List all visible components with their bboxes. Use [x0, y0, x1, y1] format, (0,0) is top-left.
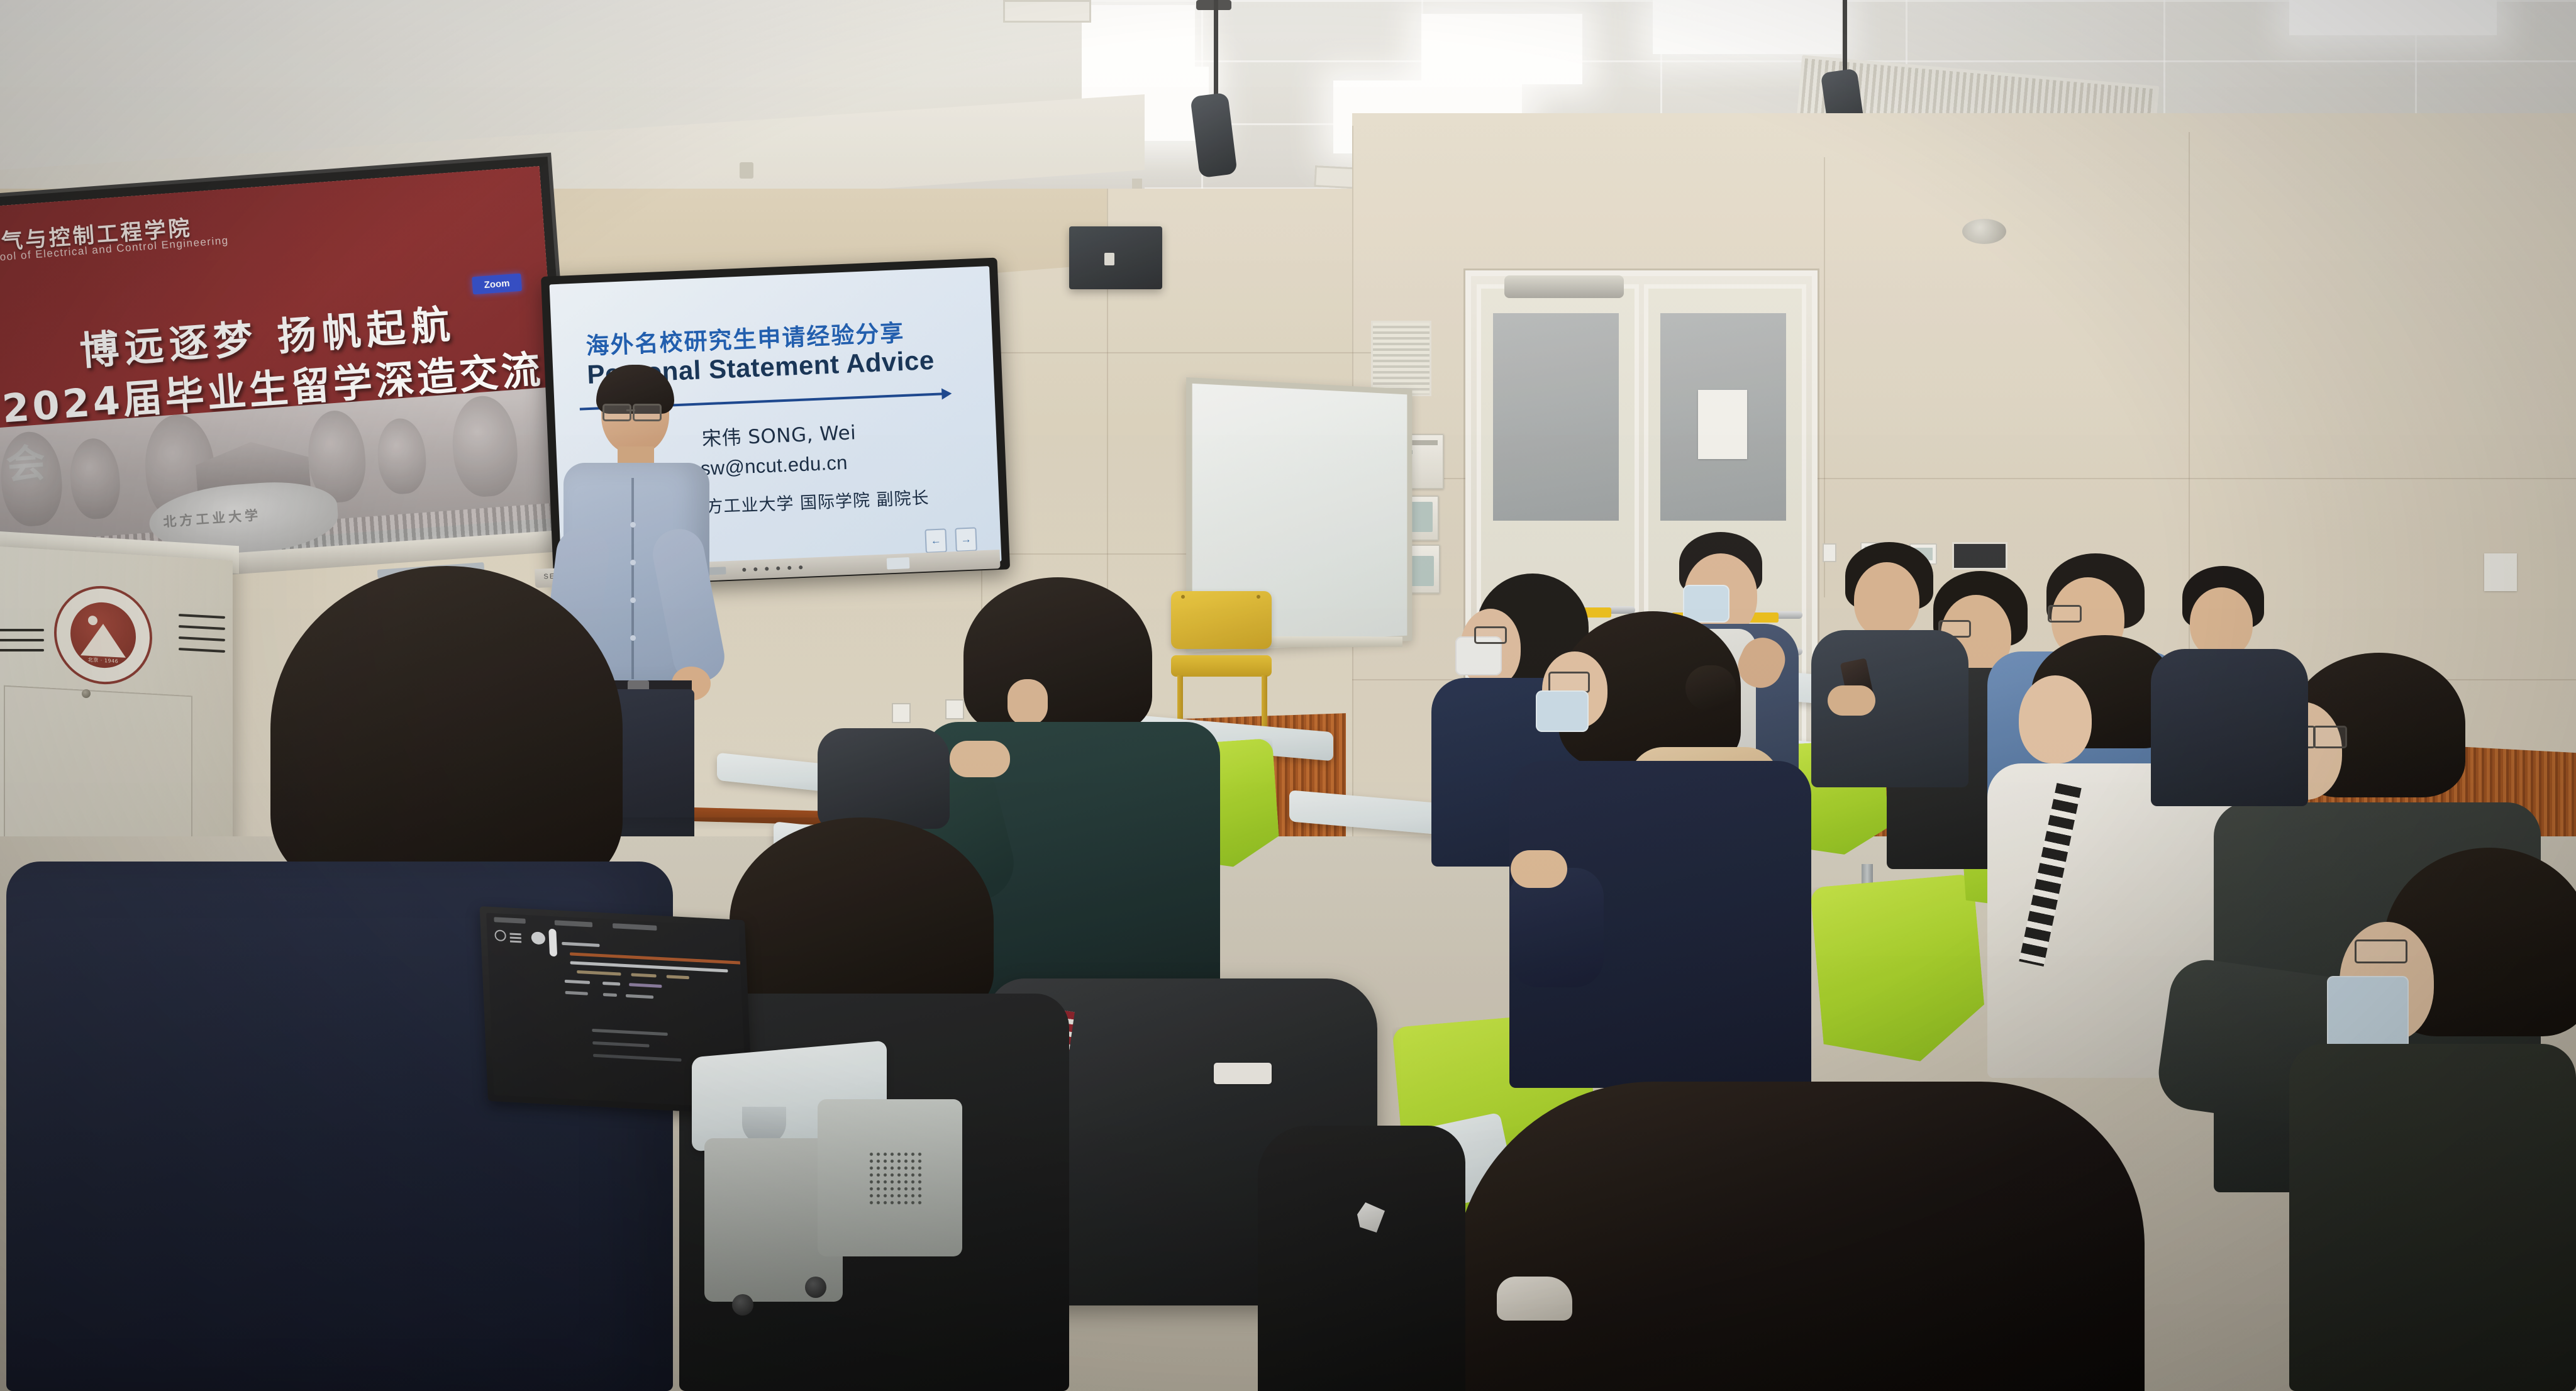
menu-icon[interactable] [509, 933, 521, 935]
presenter-glasses [602, 404, 631, 421]
ceiling-light-panel [1653, 0, 1841, 54]
podium-logo-emblem: 北京 · 1946 [70, 601, 136, 669]
attendee-head [2190, 587, 2253, 658]
presenter-shirt-placket [631, 478, 634, 679]
attendee-head [1854, 562, 1919, 638]
attendee-torso [2151, 649, 2308, 806]
presenter-glasses [633, 404, 662, 421]
desk-caster [805, 1277, 826, 1298]
avatar [531, 931, 545, 945]
yellow-chair-seat[interactable] [1171, 655, 1272, 677]
attendee-ear [1008, 679, 1048, 726]
ceiling-vent-panel [1003, 0, 1091, 23]
projector-stem [1843, 0, 1847, 75]
slide-prev-button[interactable]: ← [924, 528, 947, 553]
event-banner-screen: 电气与控制工程学院 School of Electrical and Contr… [0, 166, 565, 558]
shoe [1497, 1277, 1572, 1321]
ceiling-light-panel [1421, 14, 1582, 84]
laptop-toolbar-item [548, 929, 557, 957]
attendee-torso [2289, 1044, 2576, 1391]
face-mask [2327, 976, 2409, 1049]
podium-logo-year: 北京 · 1946 [70, 655, 136, 665]
slide-next-button[interactable]: → [955, 527, 977, 551]
laptop-toolbar-item [494, 917, 526, 924]
backpack [818, 728, 950, 829]
wall-notice [2484, 553, 2517, 591]
presenter-glasses-bridge [626, 409, 635, 411]
ceiling-light-panel [2289, 0, 2497, 35]
zoom-badge-label: Zoom [484, 278, 510, 291]
face-mask [1683, 585, 1729, 623]
podium-logo-mountain [80, 623, 126, 658]
slide-presenter-affiliation: 北方工业大学 国际学院 副院长 [688, 484, 930, 518]
attendee-hair [963, 577, 1152, 734]
door-sign-plate [1698, 390, 1747, 459]
eyeglasses [2313, 726, 2347, 748]
attendee-hand [1828, 685, 1875, 716]
projector-stem [1214, 0, 1218, 101]
eyeglasses [2355, 939, 2407, 963]
laptop-toolbar-item [613, 923, 657, 931]
air-conditioner-grille [1371, 321, 1431, 396]
speaker-led [1104, 253, 1114, 265]
attendee-leg [1258, 1126, 1465, 1391]
wall-speaker-icon [1069, 226, 1162, 289]
attendee-hand [950, 741, 1010, 777]
display-logo-plate [887, 557, 910, 569]
attendee-hand [1511, 850, 1567, 888]
ceiling-dome-speaker-icon [1962, 219, 2006, 244]
search-icon[interactable] [494, 929, 506, 941]
sprinkler-head-icon [740, 162, 753, 179]
chair-rivet [1181, 595, 1185, 599]
light-switch-icon[interactable] [1823, 543, 1836, 562]
laptop-toolbar-item [555, 920, 593, 927]
podium-logo-sun [88, 616, 97, 626]
power-socket-icon[interactable] [892, 703, 911, 723]
slide-presenter-email: sw@ncut.edu.cn [700, 452, 848, 480]
eyeglasses [2048, 605, 2082, 623]
slide-presenter-name: 宋伟 SONG, Wei [701, 416, 857, 451]
classroom-photo: 电气与控制工程学院 School of Electrical and Contr… [0, 0, 2576, 1391]
attendee-hair [270, 566, 623, 893]
yellow-chair-back[interactable] [1171, 591, 1272, 649]
eyeglasses [1548, 672, 1590, 693]
attendee-head [2019, 675, 2092, 763]
wall-seam [1824, 157, 1825, 597]
door-glass-panel [1493, 313, 1619, 521]
podium-screw [82, 689, 91, 698]
desk-caster [732, 1294, 753, 1316]
door-closer-arm-icon [1504, 275, 1624, 298]
jacket-brand-label [1214, 1063, 1272, 1084]
face-mask [1536, 690, 1589, 732]
power-socket-icon[interactable] [945, 699, 964, 719]
zoom-badge-icon: Zoom [472, 274, 522, 295]
attendee-hair [1453, 1082, 2145, 1391]
chair-rivet [1257, 595, 1260, 599]
eyeglasses [1474, 626, 1507, 644]
wall-display-icon [1952, 542, 2007, 570]
seat-perforation [868, 1151, 924, 1207]
attendee-hair-bun [1685, 665, 1736, 711]
